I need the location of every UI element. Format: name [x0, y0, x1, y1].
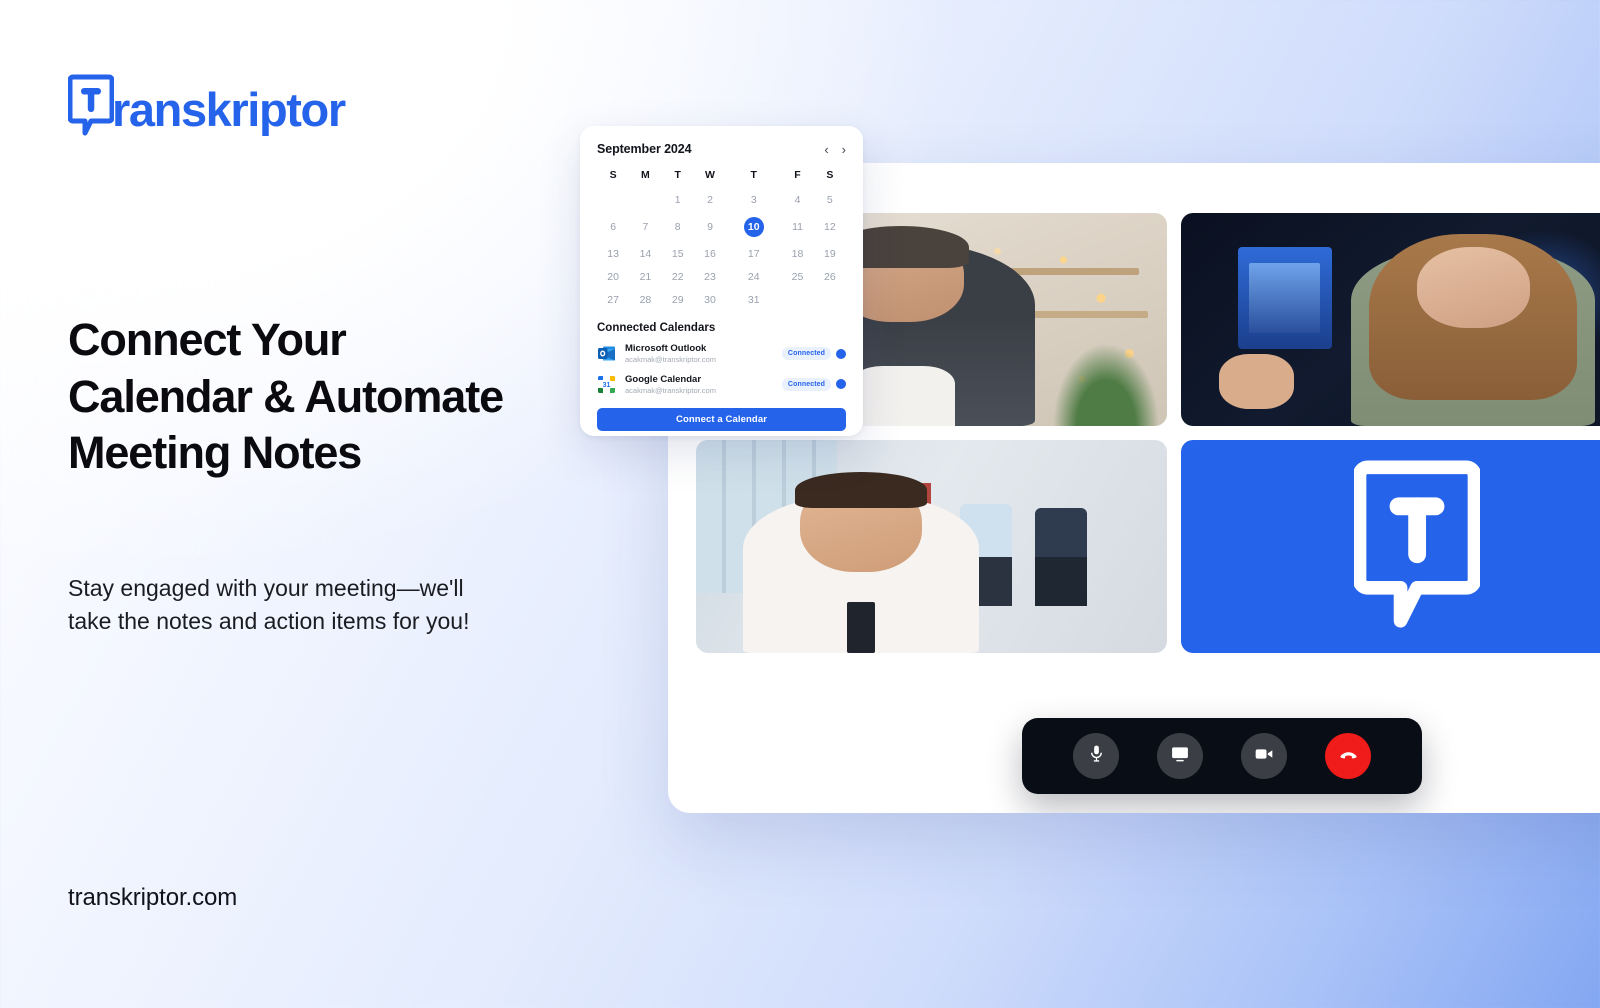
- connected-calendar-email: acakmak@transkriptor.com: [625, 355, 773, 365]
- calendar-weekday: W: [694, 166, 726, 188]
- end-call-button[interactable]: [1325, 733, 1371, 779]
- calendar-day[interactable]: 25: [781, 265, 813, 288]
- calendar-week-row: 2728293031: [597, 288, 846, 311]
- calendar-weekday: T: [726, 166, 781, 188]
- transkriptor-speech-bubble-icon: [1354, 458, 1480, 635]
- calendar-day[interactable]: 17: [726, 242, 781, 265]
- video-camera-icon: [1254, 744, 1274, 769]
- meeting-controls-bar: [1022, 718, 1422, 794]
- calendar-day[interactable]: 23: [694, 265, 726, 288]
- calendar-day-empty: [629, 188, 661, 211]
- calendar-week-row: 13141516171819: [597, 242, 846, 265]
- page-title: Connect Your Calendar & Automate Meeting…: [68, 312, 538, 482]
- decor-plant: [1054, 345, 1158, 426]
- calendar-day[interactable]: 21: [629, 265, 661, 288]
- calendar-day[interactable]: 14: [629, 242, 661, 265]
- calendar-day[interactable]: 13: [597, 242, 629, 265]
- calendar-day[interactable]: 20: [597, 265, 629, 288]
- calendar-day-empty: [814, 288, 846, 311]
- calendar-day[interactable]: 4: [781, 188, 813, 211]
- calendar-day[interactable]: 9: [694, 211, 726, 242]
- calendar-weekday: F: [781, 166, 813, 188]
- connected-calendar-meta: Google Calendar acakmak@transkriptor.com: [625, 374, 773, 396]
- calendar-day[interactable]: 16: [694, 242, 726, 265]
- connected-calendar-meta: Microsoft Outlook acakmak@transkriptor.c…: [625, 343, 773, 365]
- calendar-day[interactable]: 6: [597, 211, 629, 242]
- connection-toggle[interactable]: [836, 349, 846, 359]
- chevron-left-icon[interactable]: ‹: [824, 143, 828, 156]
- calendar-day[interactable]: 5: [814, 188, 846, 211]
- calendar-day[interactable]: 27: [597, 288, 629, 311]
- connected-calendar-row[interactable]: Microsoft Outlook acakmak@transkriptor.c…: [597, 343, 846, 365]
- share-screen-button[interactable]: [1157, 733, 1203, 779]
- calendar-weekday: S: [597, 166, 629, 188]
- connection-toggle[interactable]: [836, 379, 846, 389]
- connected-calendar-state: Connected: [782, 378, 846, 391]
- brand-logo: ranskriptor: [68, 74, 345, 136]
- connected-calendar-name: Microsoft Outlook: [625, 343, 773, 355]
- calendar-day[interactable]: 7: [629, 211, 661, 242]
- calendar-day-selected[interactable]: 10: [744, 217, 764, 237]
- microphone-button[interactable]: [1073, 733, 1119, 779]
- participant-tile-3[interactable]: [696, 440, 1167, 653]
- calendar-day[interactable]: 3: [726, 188, 781, 211]
- status-badge: Connected: [782, 378, 831, 391]
- phone-hangup-icon: [1338, 743, 1359, 769]
- connected-calendar-email: acakmak@transkriptor.com: [625, 386, 773, 396]
- calendar-day[interactable]: 18: [781, 242, 813, 265]
- connect-a-calendar-button[interactable]: Connect a Calendar: [597, 408, 846, 431]
- calendar-day[interactable]: 1: [662, 188, 694, 211]
- calendar-day[interactable]: 10: [726, 211, 781, 242]
- brand-wordmark: ranskriptor: [112, 86, 345, 133]
- status-badge: Connected: [782, 347, 831, 360]
- connected-calendar-name: Google Calendar: [625, 374, 773, 386]
- google-calendar-icon: 31: [597, 375, 616, 394]
- decor-background-person-2: [1035, 508, 1087, 606]
- participant-hair: [795, 472, 927, 508]
- monitor-icon: [1170, 744, 1190, 769]
- participant-face: [1417, 247, 1530, 328]
- calendar-day[interactable]: 28: [629, 288, 661, 311]
- calendar-weekday: M: [629, 166, 661, 188]
- calendar-day[interactable]: 31: [726, 288, 781, 311]
- participant-tie: [847, 602, 875, 653]
- calendar-week-row: 6789101112: [597, 211, 846, 242]
- calendar-day[interactable]: 15: [662, 242, 694, 265]
- calendar-day-empty: [597, 188, 629, 211]
- calendar-day[interactable]: 11: [781, 211, 813, 242]
- outlook-icon: [597, 344, 616, 363]
- transkriptor-speech-bubble-icon: [68, 74, 114, 136]
- calendar-weekday-row: SMTWTFS: [597, 166, 846, 188]
- calendar-day[interactable]: 12: [814, 211, 846, 242]
- calendar-day[interactable]: 8: [662, 211, 694, 242]
- participant-shirt: [851, 366, 955, 426]
- brand-tile[interactable]: [1181, 440, 1600, 653]
- microphone-icon: [1087, 744, 1106, 768]
- camera-button[interactable]: [1241, 733, 1287, 779]
- calendar-day[interactable]: 24: [726, 265, 781, 288]
- calendar-day[interactable]: 26: [814, 265, 846, 288]
- connected-calendars-heading: Connected Calendars: [597, 322, 846, 334]
- calendar-day[interactable]: 19: [814, 242, 846, 265]
- calendar-card: September 2024 ‹ › SMTWTFS 1234567891011…: [580, 126, 863, 436]
- calendar-header: September 2024 ‹ ›: [597, 142, 846, 156]
- calendar-day[interactable]: 22: [662, 265, 694, 288]
- calendar-day[interactable]: 30: [694, 288, 726, 311]
- calendar-day[interactable]: 29: [662, 288, 694, 311]
- connected-calendar-state: Connected: [782, 347, 846, 360]
- connected-calendar-row[interactable]: 31 Google Calendar acakmak@transkriptor.…: [597, 374, 846, 396]
- calendar-day[interactable]: 2: [694, 188, 726, 211]
- calendar-day-empty: [781, 288, 813, 311]
- participant-hand: [1219, 354, 1294, 409]
- calendar-weekday: T: [662, 166, 694, 188]
- calendar-week-row: 20212223242526: [597, 265, 846, 288]
- calendar-month-label: September 2024: [597, 142, 692, 156]
- chevron-right-icon[interactable]: ›: [842, 143, 846, 156]
- participant-tile-2[interactable]: [1181, 213, 1600, 426]
- svg-text:31: 31: [603, 382, 611, 389]
- calendar-week-row: 12345: [597, 188, 846, 211]
- website-url: transkriptor.com: [68, 884, 237, 912]
- hero-subcopy: Stay engaged with your meeting—we'll tak…: [68, 572, 508, 639]
- connected-calendars-list: Microsoft Outlook acakmak@transkriptor.c…: [597, 343, 846, 395]
- calendar-weekday: S: [814, 166, 846, 188]
- calendar-nav: ‹ ›: [824, 143, 846, 156]
- decor-wall-art: [1238, 247, 1332, 349]
- calendar-grid: SMTWTFS 12345678910111213141516171819202…: [597, 166, 846, 311]
